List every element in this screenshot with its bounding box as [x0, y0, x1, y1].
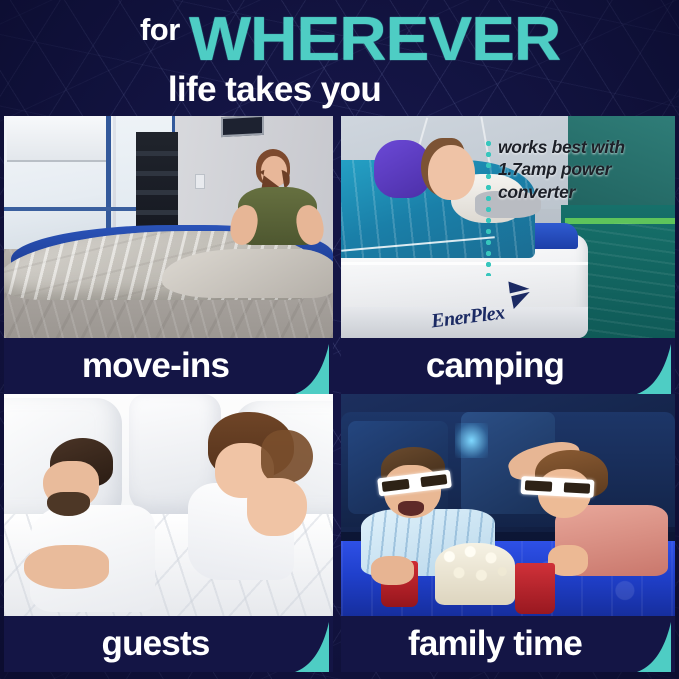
caption-band-family-time: family time: [341, 616, 675, 672]
photo-move-ins: [4, 116, 333, 338]
light-switch: [195, 174, 205, 189]
headline-prefix: for: [140, 14, 180, 45]
teal-swoosh-icon: [295, 622, 329, 672]
caption-label-camping: camping: [341, 346, 675, 386]
popcorn-bucket: [435, 543, 515, 605]
woman-arm: [247, 478, 306, 536]
red-cup-right: [515, 563, 555, 614]
window-blind: [7, 116, 109, 162]
mattress-deflated-fold: [162, 249, 333, 298]
photo-family-time: [341, 394, 675, 616]
tv-screen-glow: [455, 423, 488, 459]
photo-guests: [4, 394, 333, 616]
enerplex-bowtie-icon: [506, 278, 535, 311]
teal-swoosh-icon: [295, 344, 329, 394]
caption-band-guests: guests: [4, 616, 333, 672]
headline-main: WHEREVER: [189, 9, 560, 71]
man-arm: [24, 545, 110, 589]
caption-label-move-ins: move-ins: [4, 346, 333, 386]
airbed-edge-highlight: [341, 262, 588, 265]
caption-label-guests: guests: [4, 624, 333, 664]
wall-picture-frame: [221, 116, 264, 137]
photo-camping: works best with 1.7amp power converter E…: [341, 116, 675, 338]
header: forWHEREVER life takes you: [0, 0, 679, 114]
caption-band-camping: camping: [341, 338, 675, 394]
teal-dotted-line: [486, 138, 491, 276]
cell-guests: guests: [4, 394, 333, 672]
cell-camping: works best with 1.7amp power converter E…: [341, 116, 675, 394]
cell-family-time: family time: [341, 394, 675, 672]
headline-subline: life takes you: [0, 72, 679, 109]
sleeper-face: [428, 145, 475, 201]
woman-hair-loose: [261, 430, 314, 483]
promo-image-canvas: forWHEREVER life takes you: [0, 0, 679, 679]
headline-row: forWHEREVER: [0, 9, 679, 71]
caption-band-move-ins: move-ins: [4, 338, 333, 394]
cell-move-ins: move-ins: [4, 116, 333, 394]
callout-text-power-converter: works best with 1.7amp power converter: [498, 136, 672, 203]
teal-swoosh-icon: [637, 344, 671, 394]
boy-hand: [371, 556, 414, 585]
teal-swoosh-icon: [637, 622, 671, 672]
caption-label-family-time: family time: [341, 624, 675, 664]
man-beard: [47, 492, 90, 516]
